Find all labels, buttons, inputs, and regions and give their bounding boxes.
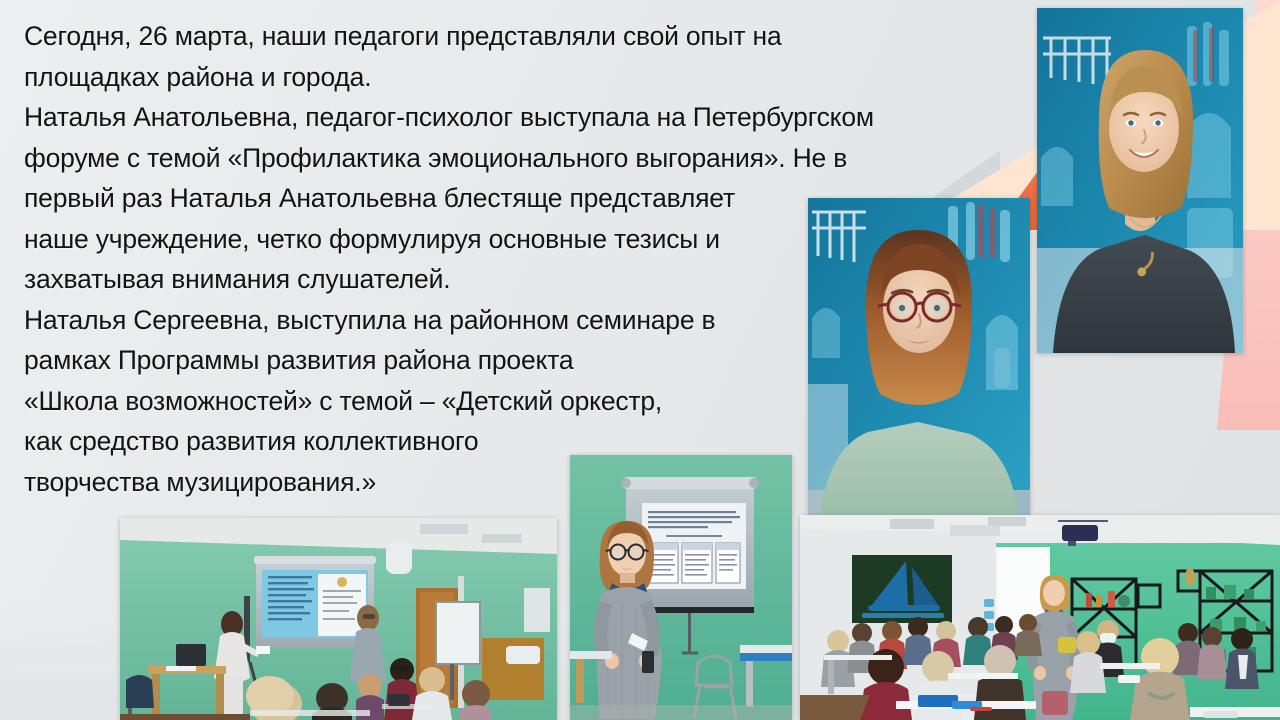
text-line: площадках района и города. (24, 57, 984, 98)
text-line: Наталья Анатольевна, педагог-психолог вы… (24, 97, 984, 138)
presentation-slide: Сегодня, 26 марта, наши педагоги предста… (0, 0, 1280, 720)
text-line-2: площадках района и города. (24, 57, 984, 98)
classroom-left-image (120, 518, 557, 720)
photo-portrait-top-right (1037, 8, 1243, 353)
seminar-right-image (800, 515, 1280, 720)
text-line: форуме с темой «Профилактика эмоциональн… (24, 138, 984, 179)
presenter-middle-image (570, 455, 792, 720)
photo-seminar-bottom-right (800, 515, 1280, 720)
text-line-3: Наталья Анатольевна, педагог-психолог вы… (24, 97, 984, 138)
photo-presenter-bottom-middle (570, 455, 792, 720)
text-line-4: форуме с темой «Профилактика эмоциональн… (24, 138, 984, 179)
photo-portrait-middle (808, 198, 1030, 518)
portrait-top-right-image (1037, 8, 1243, 353)
text-line-1: Сегодня, 26 марта, наши педагоги предста… (24, 16, 984, 57)
photo-classroom-bottom-left (120, 518, 557, 720)
portrait-middle-image (808, 198, 1030, 518)
text-line: Сегодня, 26 марта, наши педагоги предста… (24, 16, 984, 57)
